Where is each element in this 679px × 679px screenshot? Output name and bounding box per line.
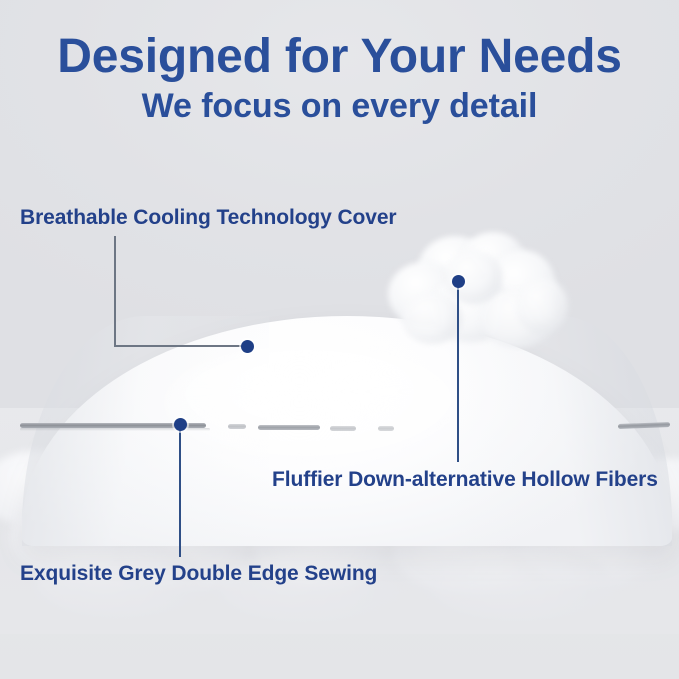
pillow-body: [22, 316, 672, 546]
fiber-fill-puff: [384, 232, 569, 357]
callout-sewing-leader: [179, 429, 181, 557]
edge-seam-segment: [330, 426, 356, 431]
edge-seam-segment: [228, 424, 246, 429]
callout-cover-leader-horizontal: [114, 345, 248, 347]
callout-fibers-leader: [457, 286, 459, 462]
callout-label-sewing: Exquisite Grey Double Edge Sewing: [20, 562, 377, 586]
callout-cover-leader-vertical: [114, 236, 116, 347]
product-infographic: Designed for Your Needs We focus on ever…: [0, 0, 679, 679]
callout-fibers-dot: [452, 275, 465, 288]
callout-label-fibers: Fluffier Down-alternative Hollow Fibers: [272, 468, 658, 492]
callout-label-cover: Breathable Cooling Technology Cover: [20, 206, 397, 230]
callout-cover-dot: [241, 340, 254, 353]
edge-seam-segment: [378, 426, 394, 431]
callout-sewing-dot: [174, 418, 187, 431]
edge-seam-segment: [258, 425, 320, 430]
